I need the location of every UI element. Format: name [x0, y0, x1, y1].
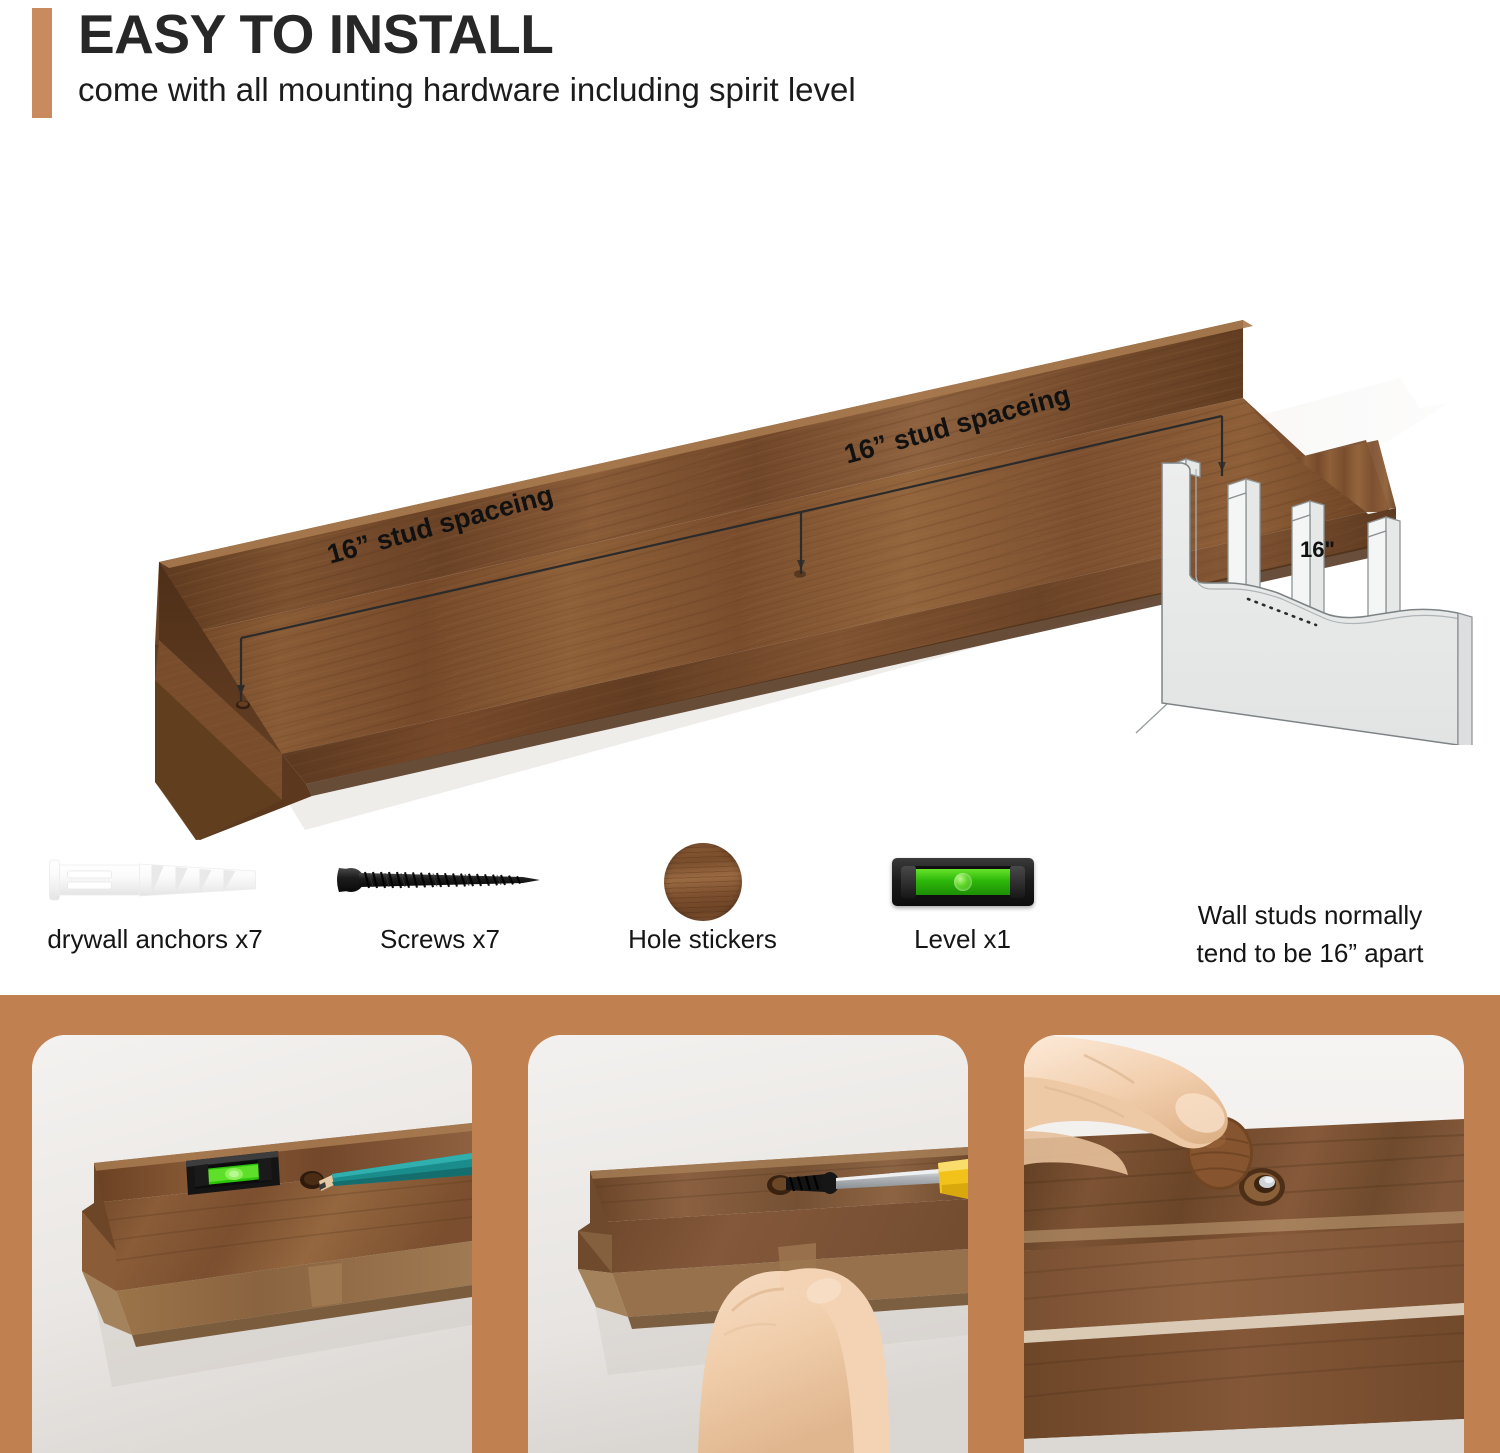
install-step-photo-3 — [1024, 1035, 1464, 1453]
hardware-art — [10, 838, 300, 918]
hardware-item-hole-stickers: Hole stickers — [585, 838, 820, 955]
hardware-art — [585, 838, 820, 918]
level-bubble — [954, 873, 972, 891]
step-3-illustration — [1024, 1035, 1464, 1453]
screw-icon — [335, 860, 545, 900]
hardware-label: Screws x7 — [315, 924, 565, 955]
hole-sticker-icon — [664, 843, 742, 921]
wall-stud-diagram: 16" — [1128, 445, 1500, 745]
spirit-level-icon — [892, 858, 1034, 906]
level-window — [901, 866, 1025, 898]
install-step-photo-2 — [528, 1035, 968, 1453]
header-text-group: EASY TO INSTALL come with all mounting h… — [78, 2, 856, 112]
hardware-art — [845, 838, 1080, 918]
wall-studs-caption-line-1: Wall studs normally — [1120, 896, 1500, 934]
installation-steps-strip — [0, 995, 1500, 1453]
step-1-illustration — [32, 1035, 472, 1453]
wall-studs-caption-line-2: tend to be 16” apart — [1120, 934, 1500, 972]
hardware-label: drywall anchors x7 — [10, 924, 300, 955]
step-2-illustration — [528, 1035, 968, 1453]
hardware-list: drywall anchors x7 — [0, 838, 1120, 978]
hardware-item-screws: Screws x7 — [315, 838, 565, 955]
hardware-item-level: Level x1 — [845, 838, 1080, 955]
hardware-item-drywall-anchors: drywall anchors x7 — [10, 838, 300, 955]
stud-dimension-label: 16" — [1300, 537, 1335, 563]
header: EASY TO INSTALL come with all mounting h… — [0, 0, 1500, 140]
level-cap-left — [901, 866, 916, 898]
wall-stud-drawing-icon — [1128, 445, 1500, 745]
install-step-photo-1 — [32, 1035, 472, 1453]
hardware-art — [315, 838, 565, 918]
page-title: EASY TO INSTALL — [78, 2, 856, 66]
accent-bar — [32, 8, 52, 118]
level-cap-right — [1010, 866, 1025, 898]
hardware-label: Hole stickers — [585, 924, 820, 955]
hardware-label: Level x1 — [845, 924, 1080, 955]
drywall-anchor-icon — [48, 856, 263, 904]
page-subtitle: come with all mounting hardware includin… — [78, 68, 856, 112]
wall-studs-caption: Wall studs normally tend to be 16” apart — [1120, 896, 1500, 972]
